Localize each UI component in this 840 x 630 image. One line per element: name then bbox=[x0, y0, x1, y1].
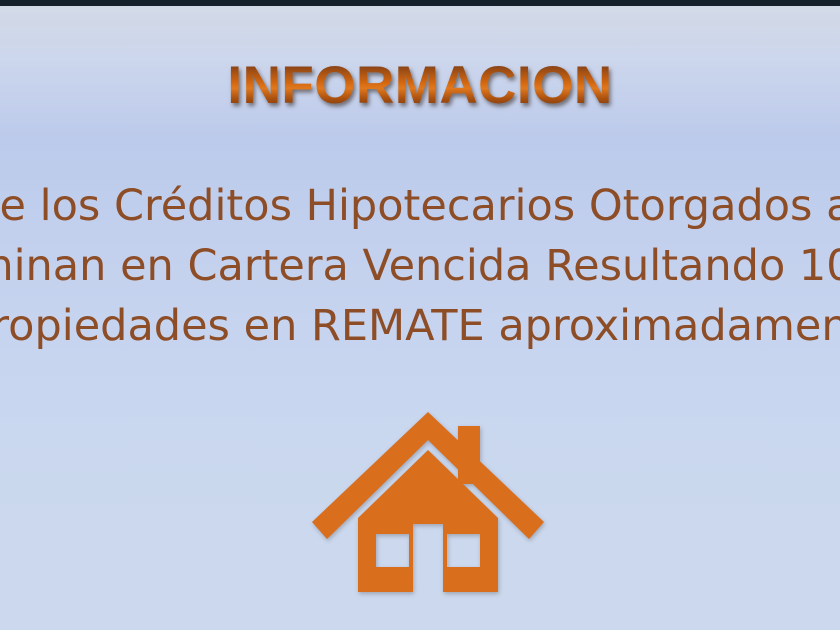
slide-body-text: le los Créditos Hipotecarios Otorgados a… bbox=[0, 176, 840, 356]
body-text-line-1: le los Créditos Hipotecarios Otorgados a bbox=[0, 176, 840, 236]
slide-title: INFORMACION bbox=[227, 57, 612, 115]
body-text-line-3: ropiedades en REMATE aproximadamen bbox=[0, 296, 840, 356]
top-letterbox-bar bbox=[0, 0, 840, 6]
presentation-slide: INFORMACION le los Créditos Hipotecarios… bbox=[0, 0, 840, 630]
slide-title-container: INFORMACION bbox=[0, 57, 840, 115]
body-text-line-2: ninan en Cartera Vencida Resultando 10 bbox=[0, 236, 840, 296]
house-icon bbox=[312, 406, 544, 602]
